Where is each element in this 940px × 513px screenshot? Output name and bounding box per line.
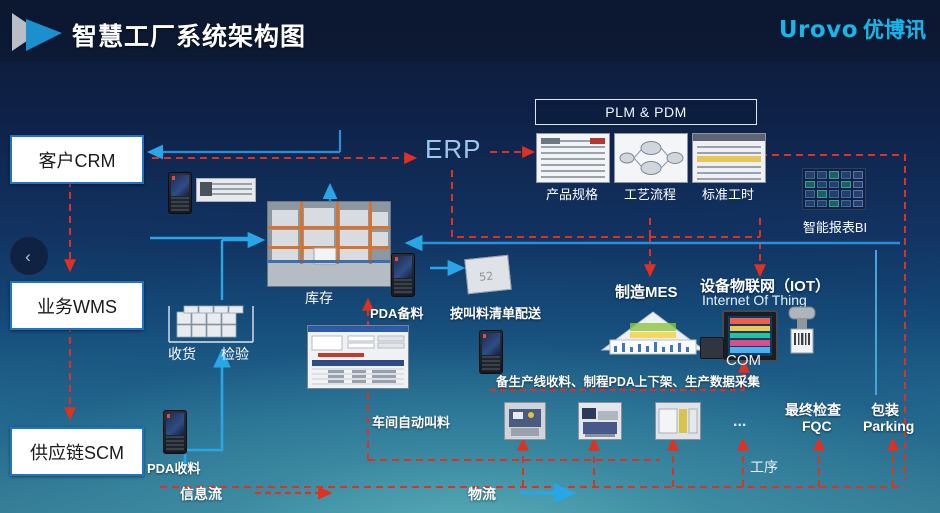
legend-material-flow-label: 物流 [468, 484, 496, 504]
cnc-machine-photo[interactable] [504, 402, 546, 440]
brand-name-en: Urovo [779, 17, 858, 43]
svg-text:52: 52 [479, 270, 494, 284]
receive-label: 收货 [168, 344, 196, 364]
process-label: 工序 [750, 457, 778, 477]
pda-prepare-label: PDA备料 [370, 303, 423, 322]
chevron-left-icon: ‹ [25, 248, 31, 265]
plc-box-icon [700, 337, 724, 359]
mes-label: 制造MES [615, 281, 678, 302]
pda-device-receive-icon[interactable] [163, 410, 187, 454]
warehouse-photo[interactable] [267, 201, 391, 287]
legend-info-flow-label: 信息流 [180, 484, 222, 504]
spec-sheet-thumbnail[interactable] [536, 133, 610, 183]
lathe-machine-photo[interactable] [578, 402, 622, 440]
dashboard-grid-thumbnail[interactable] [802, 168, 866, 210]
inspect-label: 检验 [221, 344, 249, 364]
plm-item-0-label: 产品规格 [536, 184, 608, 203]
pda-device-line-icon[interactable] [479, 330, 503, 374]
barcode-scanner-icon [785, 305, 819, 357]
page-title: 智慧工厂系统架构图 [72, 17, 306, 53]
com-label: COM [726, 352, 761, 369]
back-button[interactable]: ‹ [10, 237, 48, 275]
pda-device-top-icon[interactable] [168, 172, 192, 214]
process-flow-thumbnail[interactable] [614, 133, 688, 183]
fqc-label-en: FQC [802, 418, 832, 434]
dispatch-label: 按叫料清单配送 [450, 303, 541, 322]
plm-pdm-title: PLM & PDM [605, 104, 687, 120]
erp-software-screenshot[interactable] [307, 325, 409, 389]
pallet-boxes-icon [165, 300, 257, 346]
box-supply-chain-scm-label: 供应链SCM [30, 439, 124, 465]
barcode-label-thumbnail [196, 178, 256, 202]
plm-item-1-label: 工艺流程 [614, 184, 686, 203]
box-business-wms[interactable]: 业务WMS [10, 281, 144, 330]
brand-name-cn: 优博讯 [863, 14, 926, 44]
box-supply-chain-scm[interactable]: 供应链SCM [10, 427, 144, 476]
plm-item-2-label: 标准工时 [692, 184, 764, 203]
standard-hours-thumbnail[interactable] [692, 133, 766, 183]
box-customer-crm-label: 客户CRM [39, 147, 116, 173]
slide-header: 智慧工厂系统架构图 Urovo 优博讯 [0, 0, 940, 62]
pda-receive-label: PDA收料 [147, 458, 200, 477]
brand-logo: Urovo 优博讯 [779, 14, 926, 40]
auto-call-label: 车间自动叫料 [372, 412, 450, 431]
bi-label: 智能报表BI [790, 217, 880, 236]
slide-canvas: 智慧工厂系统架构图 Urovo 优博讯 ‹ [0, 0, 940, 513]
pack-label-cn: 包装 [871, 400, 899, 420]
box-business-wms-label: 业务WMS [37, 293, 117, 319]
inventory-label: 库存 [305, 288, 333, 308]
erp-label: ERP [425, 134, 481, 165]
fqc-label-cn: 最终检查 [785, 400, 841, 420]
machines-ellipsis: ... [733, 413, 746, 431]
pack-label-en: Parking [863, 418, 914, 434]
pda-device-prepare-icon[interactable] [391, 253, 415, 297]
mes-chart-thumbnail[interactable] [600, 310, 706, 358]
material-cart-icon: 52 [464, 255, 511, 294]
plm-pdm-box[interactable]: PLM & PDM [535, 99, 757, 125]
box-customer-crm[interactable]: 客户CRM [10, 135, 144, 184]
play-triangle-logo [10, 11, 68, 53]
assembly-machine-photo[interactable] [655, 402, 701, 440]
collect-label: 备生产线收料、制程PDA上下架、生产数据采集 [496, 371, 760, 390]
